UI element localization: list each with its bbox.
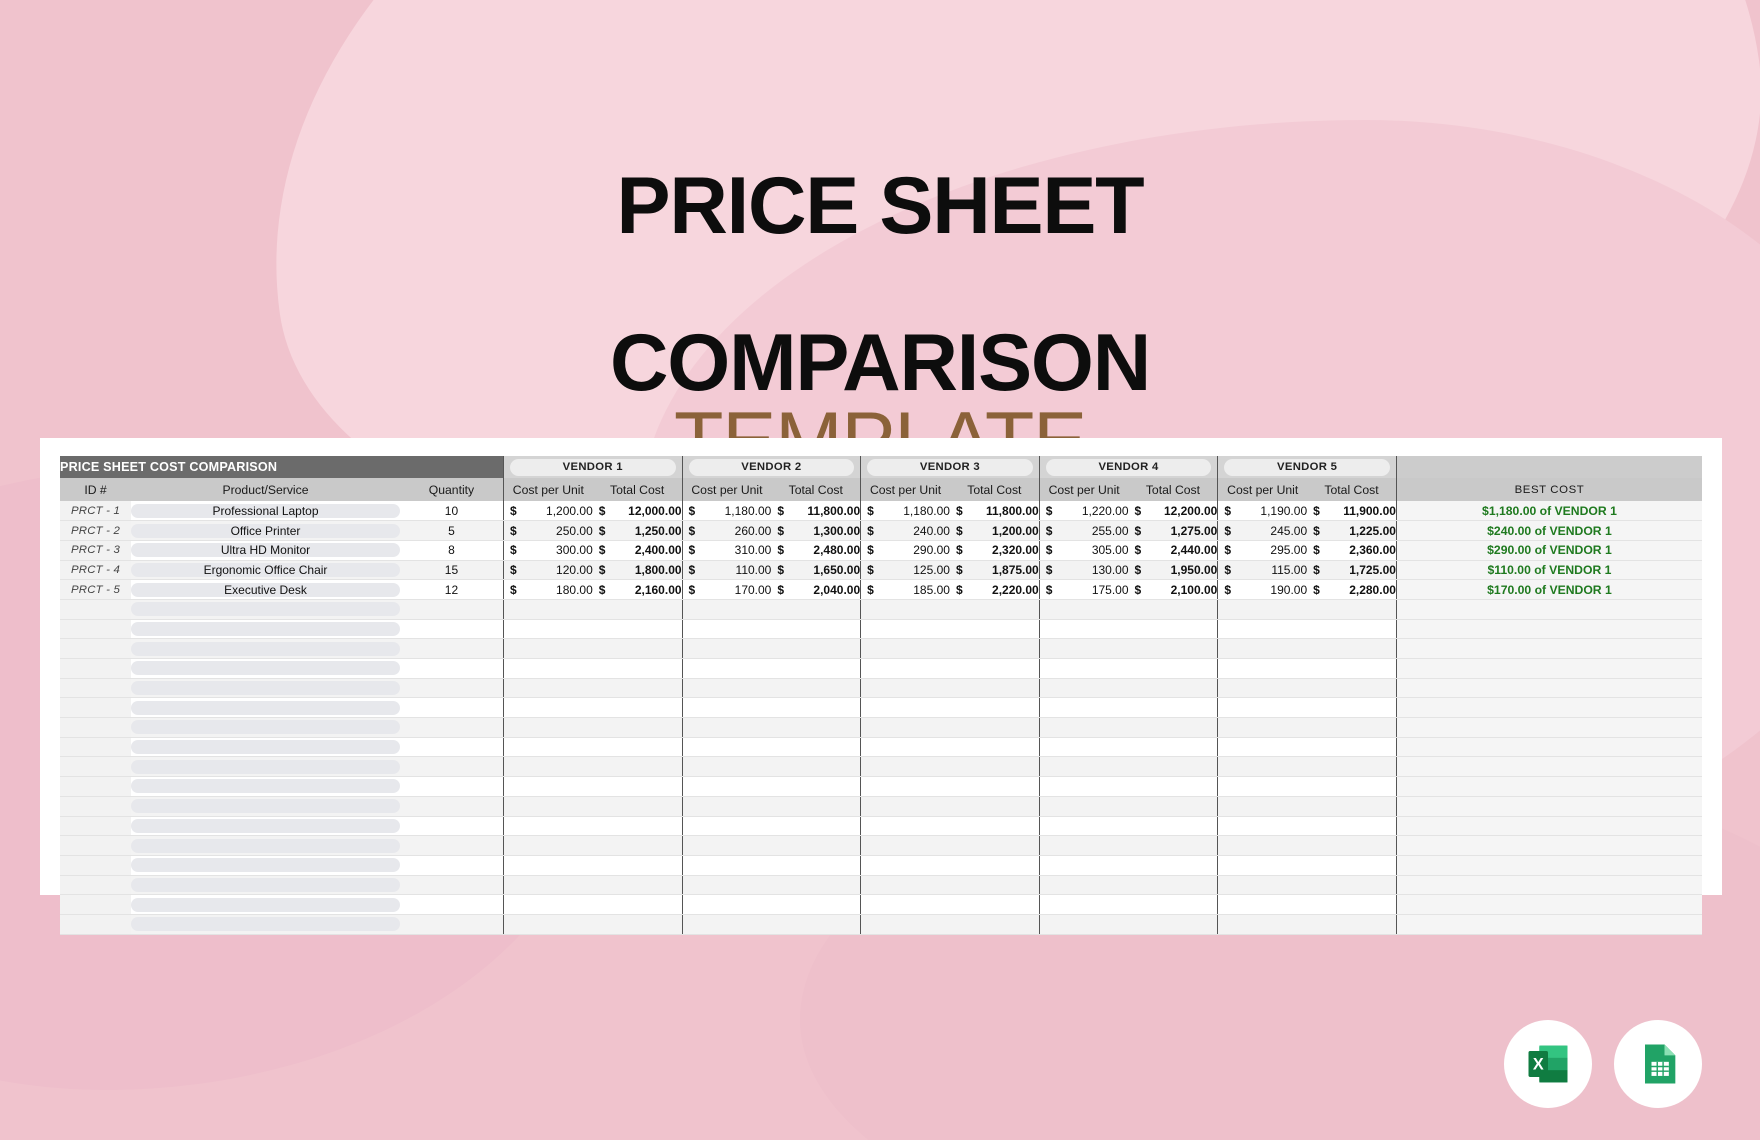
cell-v3-total-cost[interactable]: [950, 639, 1039, 659]
cell-product[interactable]: [131, 875, 400, 895]
cell-v2-cost-per-unit[interactable]: [682, 914, 771, 934]
cell-v1-cost-per-unit[interactable]: $1,200.00: [503, 501, 592, 521]
title-line-1: PRICE SHEET: [617, 161, 1144, 251]
cell-v4-cost-per-unit[interactable]: [1039, 777, 1128, 797]
cell-v5-total-cost[interactable]: [1307, 678, 1396, 698]
table-row-empty[interactable]: [60, 895, 1702, 915]
cell-v5-total-cost[interactable]: [1307, 698, 1396, 718]
cell-product[interactable]: [131, 659, 400, 679]
table-row[interactable]: PRCT - 2Office Printer5$250.00$1,250.00$…: [60, 521, 1702, 541]
cell-v2-cost-per-unit[interactable]: [682, 698, 771, 718]
cell-v2-total-cost[interactable]: [771, 757, 860, 777]
cell-quantity[interactable]: [400, 777, 504, 797]
cell-v5-cost-per-unit[interactable]: [1218, 698, 1307, 718]
table-row-empty[interactable]: [60, 698, 1702, 718]
cell-product[interactable]: [131, 914, 400, 934]
cell-v5-total-cost[interactable]: $2,280.00: [1307, 580, 1396, 600]
cell-v4-total-cost[interactable]: [1129, 757, 1218, 777]
cell-v4-cost-per-unit[interactable]: [1039, 678, 1128, 698]
cell-v5-cost-per-unit[interactable]: $115.00: [1218, 560, 1307, 580]
cell-v5-cost-per-unit[interactable]: $190.00: [1218, 580, 1307, 600]
cell-v4-cost-per-unit[interactable]: [1039, 836, 1128, 856]
cell-v3-cost-per-unit[interactable]: [861, 639, 950, 659]
cell-v3-cost-per-unit[interactable]: [861, 718, 950, 738]
cell-v2-cost-per-unit[interactable]: [682, 816, 771, 836]
cell-v2-cost-per-unit[interactable]: [682, 718, 771, 738]
cell-v2-total-cost[interactable]: [771, 914, 860, 934]
cell-v4-total-cost[interactable]: [1129, 737, 1218, 757]
cell-v2-cost-per-unit[interactable]: [682, 678, 771, 698]
cell-v5-total-cost[interactable]: $2,360.00: [1307, 540, 1396, 560]
cell-v1-total-cost[interactable]: [593, 698, 682, 718]
cell-product[interactable]: [131, 895, 400, 915]
cell-v3-total-cost[interactable]: [950, 914, 1039, 934]
cell-v3-cost-per-unit[interactable]: [861, 855, 950, 875]
cell-v3-total-cost[interactable]: [950, 659, 1039, 679]
cell-v5-cost-per-unit[interactable]: [1218, 659, 1307, 679]
table-row-empty[interactable]: [60, 836, 1702, 856]
cell-v3-cost-per-unit[interactable]: $125.00: [861, 560, 950, 580]
cell-v2-cost-per-unit[interactable]: [682, 855, 771, 875]
cell-v3-cost-per-unit[interactable]: [861, 836, 950, 856]
cell-v3-total-cost[interactable]: [950, 777, 1039, 797]
cell-quantity[interactable]: 15: [400, 560, 504, 580]
cell-v5-total-cost[interactable]: [1307, 796, 1396, 816]
cell-v4-total-cost[interactable]: [1129, 836, 1218, 856]
cell-v2-cost-per-unit[interactable]: $310.00: [682, 540, 771, 560]
cell-v3-cost-per-unit[interactable]: [861, 895, 950, 915]
cell-product[interactable]: [131, 737, 400, 757]
cell-v1-total-cost[interactable]: $2,400.00: [593, 540, 682, 560]
cell-v2-total-cost[interactable]: $1,650.00: [771, 560, 860, 580]
cell-v4-total-cost[interactable]: $1,950.00: [1129, 560, 1218, 580]
cell-v1-cost-per-unit[interactable]: [503, 914, 592, 934]
google-sheets-icon-button[interactable]: [1614, 1020, 1702, 1108]
cell-v5-total-cost[interactable]: [1307, 777, 1396, 797]
cell-v2-total-cost[interactable]: [771, 895, 860, 915]
cell-v1-total-cost[interactable]: [593, 737, 682, 757]
cell-v4-total-cost[interactable]: $1,275.00: [1129, 521, 1218, 541]
cell-v5-total-cost[interactable]: [1307, 895, 1396, 915]
cell-v4-cost-per-unit[interactable]: [1039, 816, 1128, 836]
cell-quantity[interactable]: [400, 737, 504, 757]
cell-v2-cost-per-unit[interactable]: [682, 836, 771, 856]
cell-v2-total-cost[interactable]: [771, 698, 860, 718]
cell-v4-total-cost[interactable]: $12,200.00: [1129, 501, 1218, 521]
table-row[interactable]: PRCT - 3Ultra HD Monitor8$300.00$2,400.0…: [60, 540, 1702, 560]
cell-v3-cost-per-unit[interactable]: $240.00: [861, 521, 950, 541]
cell-v3-total-cost[interactable]: [950, 698, 1039, 718]
cell-v1-cost-per-unit[interactable]: [503, 757, 592, 777]
cell-v3-total-cost[interactable]: [950, 875, 1039, 895]
cell-v4-total-cost[interactable]: $2,440.00: [1129, 540, 1218, 560]
cell-v1-cost-per-unit[interactable]: $180.00: [503, 580, 592, 600]
cell-id: PRCT - 2: [60, 521, 131, 541]
table-row-empty[interactable]: [60, 777, 1702, 797]
spreadsheet-card: PRICE SHEET COST COMPARISON VENDOR 1 VEN…: [40, 438, 1722, 895]
cell-v1-total-cost[interactable]: [593, 836, 682, 856]
table-row-empty[interactable]: [60, 678, 1702, 698]
cell-v4-total-cost[interactable]: [1129, 718, 1218, 738]
cell-v5-total-cost[interactable]: [1307, 914, 1396, 934]
cell-quantity[interactable]: [400, 816, 504, 836]
cell-v2-cost-per-unit[interactable]: $110.00: [682, 560, 771, 580]
cell-quantity[interactable]: [400, 875, 504, 895]
cell-v1-cost-per-unit[interactable]: [503, 895, 592, 915]
cell-v2-total-cost[interactable]: [771, 836, 860, 856]
price-comparison-table[interactable]: PRICE SHEET COST COMPARISON VENDOR 1 VEN…: [60, 456, 1702, 935]
cell-quantity[interactable]: [400, 619, 504, 639]
cell-v1-cost-per-unit[interactable]: [503, 875, 592, 895]
cell-v4-cost-per-unit[interactable]: [1039, 855, 1128, 875]
cell-v5-total-cost[interactable]: $1,725.00: [1307, 560, 1396, 580]
cell-product[interactable]: Ergonomic Office Chair: [131, 560, 400, 580]
cell-v1-total-cost[interactable]: $2,160.00: [593, 580, 682, 600]
cell-v3-total-cost[interactable]: [950, 757, 1039, 777]
cell-v4-total-cost[interactable]: [1129, 875, 1218, 895]
cell-v2-total-cost[interactable]: [771, 619, 860, 639]
cell-v4-total-cost[interactable]: $2,100.00: [1129, 580, 1218, 600]
cell-v4-total-cost[interactable]: [1129, 895, 1218, 915]
cell-quantity[interactable]: 10: [400, 501, 504, 521]
cell-v1-cost-per-unit[interactable]: [503, 816, 592, 836]
cell-v5-total-cost[interactable]: [1307, 875, 1396, 895]
cell-quantity[interactable]: [400, 914, 504, 934]
cell-v2-cost-per-unit[interactable]: [682, 599, 771, 619]
cell-v2-total-cost[interactable]: $11,800.00: [771, 501, 860, 521]
cell-v2-total-cost[interactable]: $1,300.00: [771, 521, 860, 541]
cell-v4-cost-per-unit[interactable]: $175.00: [1039, 580, 1128, 600]
cell-v2-total-cost[interactable]: [771, 816, 860, 836]
cell-v5-total-cost[interactable]: [1307, 718, 1396, 738]
cell-v1-total-cost[interactable]: [593, 855, 682, 875]
cell-v3-cost-per-unit[interactable]: $290.00: [861, 540, 950, 560]
cell-v2-total-cost[interactable]: $2,040.00: [771, 580, 860, 600]
cell-v5-cost-per-unit[interactable]: [1218, 855, 1307, 875]
cell-v1-cost-per-unit[interactable]: [503, 718, 592, 738]
cell-v3-cost-per-unit[interactable]: [861, 914, 950, 934]
cell-v3-total-cost[interactable]: [950, 619, 1039, 639]
cell-v4-total-cost[interactable]: [1129, 698, 1218, 718]
cell-v3-cost-per-unit[interactable]: [861, 619, 950, 639]
cell-v2-total-cost[interactable]: [771, 678, 860, 698]
cell-v3-cost-per-unit[interactable]: [861, 816, 950, 836]
cell-v5-cost-per-unit[interactable]: $1,190.00: [1218, 501, 1307, 521]
cell-v3-total-cost[interactable]: $11,800.00: [950, 501, 1039, 521]
cell-v4-total-cost[interactable]: [1129, 678, 1218, 698]
cell-v4-total-cost[interactable]: [1129, 777, 1218, 797]
cell-v2-cost-per-unit[interactable]: [682, 659, 771, 679]
cell-v5-total-cost[interactable]: [1307, 757, 1396, 777]
cell-v4-cost-per-unit[interactable]: [1039, 639, 1128, 659]
cell-v2-cost-per-unit[interactable]: [682, 757, 771, 777]
cell-quantity[interactable]: 12: [400, 580, 504, 600]
cell-v3-total-cost[interactable]: [950, 855, 1039, 875]
cell-product[interactable]: [131, 678, 400, 698]
cell-v5-total-cost[interactable]: [1307, 639, 1396, 659]
cell-v4-total-cost[interactable]: [1129, 914, 1218, 934]
vendor-header-3: VENDOR 3: [861, 456, 1040, 478]
cell-best-cost: [1396, 757, 1702, 777]
cell-v5-cost-per-unit[interactable]: [1218, 599, 1307, 619]
cell-best-cost: [1396, 737, 1702, 757]
cell-v5-total-cost[interactable]: [1307, 659, 1396, 679]
cell-product[interactable]: [131, 757, 400, 777]
cell-v3-total-cost[interactable]: [950, 796, 1039, 816]
cell-v1-total-cost[interactable]: [593, 757, 682, 777]
cell-v2-cost-per-unit[interactable]: $170.00: [682, 580, 771, 600]
cell-v2-total-cost[interactable]: [771, 777, 860, 797]
cell-v1-cost-per-unit[interactable]: [503, 639, 592, 659]
cell-v5-cost-per-unit[interactable]: [1218, 914, 1307, 934]
cell-v1-total-cost[interactable]: $1,800.00: [593, 560, 682, 580]
cell-v4-total-cost[interactable]: [1129, 639, 1218, 659]
cell-v1-cost-per-unit[interactable]: [503, 836, 592, 856]
cell-v3-total-cost[interactable]: [950, 718, 1039, 738]
cell-v2-cost-per-unit[interactable]: [682, 777, 771, 797]
cell-product[interactable]: [131, 718, 400, 738]
cell-v3-cost-per-unit[interactable]: [861, 599, 950, 619]
cell-v1-total-cost[interactable]: [593, 639, 682, 659]
cell-v4-cost-per-unit[interactable]: [1039, 757, 1128, 777]
cell-v3-total-cost[interactable]: [950, 599, 1039, 619]
table-row-empty[interactable]: [60, 855, 1702, 875]
cell-v1-total-cost[interactable]: [593, 816, 682, 836]
cell-product[interactable]: Professional Laptop: [131, 501, 400, 521]
cell-v5-cost-per-unit[interactable]: [1218, 895, 1307, 915]
cell-quantity[interactable]: [400, 698, 504, 718]
cell-v4-cost-per-unit[interactable]: [1039, 737, 1128, 757]
cell-v3-total-cost[interactable]: $2,320.00: [950, 540, 1039, 560]
table-row-empty[interactable]: [60, 659, 1702, 679]
cell-v2-total-cost[interactable]: [771, 737, 860, 757]
cell-v2-total-cost[interactable]: [771, 875, 860, 895]
table-row-empty[interactable]: [60, 619, 1702, 639]
cell-v2-cost-per-unit[interactable]: [682, 796, 771, 816]
cell-v1-cost-per-unit[interactable]: [503, 599, 592, 619]
cell-v5-cost-per-unit[interactable]: [1218, 619, 1307, 639]
cell-quantity[interactable]: [400, 796, 504, 816]
cell-v4-cost-per-unit[interactable]: $255.00: [1039, 521, 1128, 541]
cell-v1-cost-per-unit[interactable]: [503, 855, 592, 875]
cell-v5-cost-per-unit[interactable]: [1218, 757, 1307, 777]
cell-product[interactable]: [131, 855, 400, 875]
cell-quantity[interactable]: [400, 599, 504, 619]
cell-quantity[interactable]: [400, 639, 504, 659]
cell-v4-total-cost[interactable]: [1129, 816, 1218, 836]
cell-v3-cost-per-unit[interactable]: [861, 777, 950, 797]
cell-product[interactable]: Executive Desk: [131, 580, 400, 600]
cell-v1-cost-per-unit[interactable]: [503, 777, 592, 797]
cell-v5-total-cost[interactable]: [1307, 599, 1396, 619]
cell-v4-cost-per-unit[interactable]: $1,220.00: [1039, 501, 1128, 521]
cell-v1-total-cost[interactable]: [593, 914, 682, 934]
cell-product[interactable]: Office Printer: [131, 521, 400, 541]
cell-v3-total-cost[interactable]: [950, 816, 1039, 836]
cell-v5-cost-per-unit[interactable]: $295.00: [1218, 540, 1307, 560]
cell-v1-total-cost[interactable]: [593, 895, 682, 915]
cell-v3-total-cost[interactable]: $2,220.00: [950, 580, 1039, 600]
cell-v5-cost-per-unit[interactable]: [1218, 718, 1307, 738]
cell-v1-cost-per-unit[interactable]: [503, 737, 592, 757]
cell-v4-cost-per-unit[interactable]: [1039, 875, 1128, 895]
cell-v5-total-cost[interactable]: $1,225.00: [1307, 521, 1396, 541]
cell-v5-cost-per-unit[interactable]: [1218, 737, 1307, 757]
cell-v4-total-cost[interactable]: [1129, 599, 1218, 619]
cell-v5-cost-per-unit[interactable]: $245.00: [1218, 521, 1307, 541]
cell-product[interactable]: [131, 777, 400, 797]
cell-quantity[interactable]: [400, 678, 504, 698]
cell-v2-total-cost[interactable]: $2,480.00: [771, 540, 860, 560]
cell-v4-cost-per-unit[interactable]: [1039, 718, 1128, 738]
cell-v4-total-cost[interactable]: [1129, 855, 1218, 875]
cell-v3-cost-per-unit[interactable]: [861, 698, 950, 718]
cell-v2-cost-per-unit[interactable]: [682, 895, 771, 915]
table-body[interactable]: PRCT - 1Professional Laptop10$1,200.00$1…: [60, 501, 1702, 934]
cell-quantity[interactable]: 5: [400, 521, 504, 541]
cell-v1-cost-per-unit[interactable]: $300.00: [503, 540, 592, 560]
cell-v2-cost-per-unit[interactable]: [682, 639, 771, 659]
cell-v2-cost-per-unit[interactable]: [682, 737, 771, 757]
cell-v4-cost-per-unit[interactable]: [1039, 914, 1128, 934]
table-row-empty[interactable]: [60, 816, 1702, 836]
cell-v4-cost-per-unit[interactable]: [1039, 698, 1128, 718]
cell-product[interactable]: [131, 639, 400, 659]
table-row-empty[interactable]: [60, 796, 1702, 816]
table-row[interactable]: PRCT - 4Ergonomic Office Chair15$120.00$…: [60, 560, 1702, 580]
cell-v5-total-cost[interactable]: $11,900.00: [1307, 501, 1396, 521]
cell-v2-cost-per-unit[interactable]: [682, 875, 771, 895]
cell-v3-total-cost[interactable]: $1,875.00: [950, 560, 1039, 580]
cell-v1-total-cost[interactable]: $1,250.00: [593, 521, 682, 541]
cell-v4-cost-per-unit[interactable]: [1039, 599, 1128, 619]
cell-v3-total-cost[interactable]: [950, 836, 1039, 856]
cell-v3-cost-per-unit[interactable]: [861, 678, 950, 698]
cell-v1-cost-per-unit[interactable]: $120.00: [503, 560, 592, 580]
cell-v4-total-cost[interactable]: [1129, 619, 1218, 639]
table-row-empty[interactable]: [60, 718, 1702, 738]
cell-v3-total-cost[interactable]: [950, 737, 1039, 757]
cell-v1-cost-per-unit[interactable]: [503, 659, 592, 679]
cell-v5-cost-per-unit[interactable]: [1218, 678, 1307, 698]
cell-v2-total-cost[interactable]: [771, 796, 860, 816]
cell-product[interactable]: [131, 836, 400, 856]
cell-quantity[interactable]: [400, 855, 504, 875]
cell-product[interactable]: Ultra HD Monitor: [131, 540, 400, 560]
cell-v5-total-cost[interactable]: [1307, 836, 1396, 856]
table-row[interactable]: PRCT - 5Executive Desk12$180.00$2,160.00…: [60, 580, 1702, 600]
cell-quantity[interactable]: [400, 757, 504, 777]
cell-product[interactable]: [131, 816, 400, 836]
cell-product[interactable]: [131, 698, 400, 718]
cell-product[interactable]: [131, 619, 400, 639]
cell-v4-total-cost[interactable]: [1129, 659, 1218, 679]
cell-v2-total-cost[interactable]: [771, 855, 860, 875]
cell-v3-cost-per-unit[interactable]: [861, 659, 950, 679]
cell-v5-cost-per-unit[interactable]: [1218, 639, 1307, 659]
cell-v2-total-cost[interactable]: [771, 599, 860, 619]
excel-icon-button[interactable]: X: [1504, 1020, 1592, 1108]
cell-v5-cost-per-unit[interactable]: [1218, 796, 1307, 816]
cell-v3-cost-per-unit[interactable]: [861, 796, 950, 816]
table-row[interactable]: PRCT - 1Professional Laptop10$1,200.00$1…: [60, 501, 1702, 521]
cell-v2-cost-per-unit[interactable]: $1,180.00: [682, 501, 771, 521]
cell-v5-total-cost[interactable]: [1307, 855, 1396, 875]
cell-v2-cost-per-unit[interactable]: $260.00: [682, 521, 771, 541]
cell-v1-total-cost[interactable]: [593, 777, 682, 797]
cell-v2-cost-per-unit[interactable]: [682, 619, 771, 639]
cell-v4-cost-per-unit[interactable]: [1039, 619, 1128, 639]
cell-v5-cost-per-unit[interactable]: [1218, 836, 1307, 856]
cell-v5-total-cost[interactable]: [1307, 737, 1396, 757]
cell-v4-cost-per-unit[interactable]: $305.00: [1039, 540, 1128, 560]
cell-v1-total-cost[interactable]: [593, 659, 682, 679]
cell-v3-total-cost[interactable]: [950, 895, 1039, 915]
cell-v1-total-cost[interactable]: [593, 619, 682, 639]
cell-v3-cost-per-unit[interactable]: $185.00: [861, 580, 950, 600]
cell-v5-total-cost[interactable]: [1307, 816, 1396, 836]
cell-v1-total-cost[interactable]: [593, 599, 682, 619]
cell-product[interactable]: [131, 599, 400, 619]
cell-v3-cost-per-unit[interactable]: $1,180.00: [861, 501, 950, 521]
currency-symbol: $: [1313, 524, 1320, 538]
cell-v1-cost-per-unit[interactable]: [503, 678, 592, 698]
cell-v3-cost-per-unit[interactable]: [861, 875, 950, 895]
cell-v1-total-cost[interactable]: [593, 678, 682, 698]
cell-v3-cost-per-unit[interactable]: [861, 737, 950, 757]
cell-v5-total-cost[interactable]: [1307, 619, 1396, 639]
cell-quantity[interactable]: 8: [400, 540, 504, 560]
table-row-empty[interactable]: [60, 599, 1702, 619]
cell-v3-cost-per-unit[interactable]: [861, 757, 950, 777]
cell-v5-cost-per-unit[interactable]: [1218, 816, 1307, 836]
cell-v3-total-cost[interactable]: $1,200.00: [950, 521, 1039, 541]
table-row-empty[interactable]: [60, 757, 1702, 777]
cell-v2-total-cost[interactable]: [771, 718, 860, 738]
cell-v1-total-cost[interactable]: [593, 796, 682, 816]
cell-v1-total-cost[interactable]: $12,000.00: [593, 501, 682, 521]
cell-v1-cost-per-unit[interactable]: [503, 698, 592, 718]
cell-v4-cost-per-unit[interactable]: $130.00: [1039, 560, 1128, 580]
cell-product[interactable]: [131, 796, 400, 816]
cell-v4-cost-per-unit[interactable]: [1039, 659, 1128, 679]
cell-v4-cost-per-unit[interactable]: [1039, 796, 1128, 816]
cell-v5-cost-per-unit[interactable]: [1218, 875, 1307, 895]
table-row-empty[interactable]: [60, 914, 1702, 934]
table-row-empty[interactable]: [60, 875, 1702, 895]
cell-quantity[interactable]: [400, 659, 504, 679]
cell-quantity[interactable]: [400, 836, 504, 856]
cell-quantity[interactable]: [400, 895, 504, 915]
cell-v1-cost-per-unit[interactable]: [503, 796, 592, 816]
product-pill: [131, 701, 400, 715]
cell-v2-total-cost[interactable]: [771, 659, 860, 679]
cell-quantity[interactable]: [400, 718, 504, 738]
cell-v1-cost-per-unit[interactable]: [503, 619, 592, 639]
cell-best-cost: [1396, 777, 1702, 797]
cell-v5-cost-per-unit[interactable]: [1218, 777, 1307, 797]
table-row-empty[interactable]: [60, 639, 1702, 659]
cell-v1-cost-per-unit[interactable]: $250.00: [503, 521, 592, 541]
cell-v2-total-cost[interactable]: [771, 639, 860, 659]
cell-v3-total-cost[interactable]: [950, 678, 1039, 698]
cell-v1-total-cost[interactable]: [593, 718, 682, 738]
cell-v4-cost-per-unit[interactable]: [1039, 895, 1128, 915]
table-row-empty[interactable]: [60, 737, 1702, 757]
cell-v1-total-cost[interactable]: [593, 875, 682, 895]
table-banner: PRICE SHEET COST COMPARISON: [60, 456, 503, 478]
cell-v4-total-cost[interactable]: [1129, 796, 1218, 816]
